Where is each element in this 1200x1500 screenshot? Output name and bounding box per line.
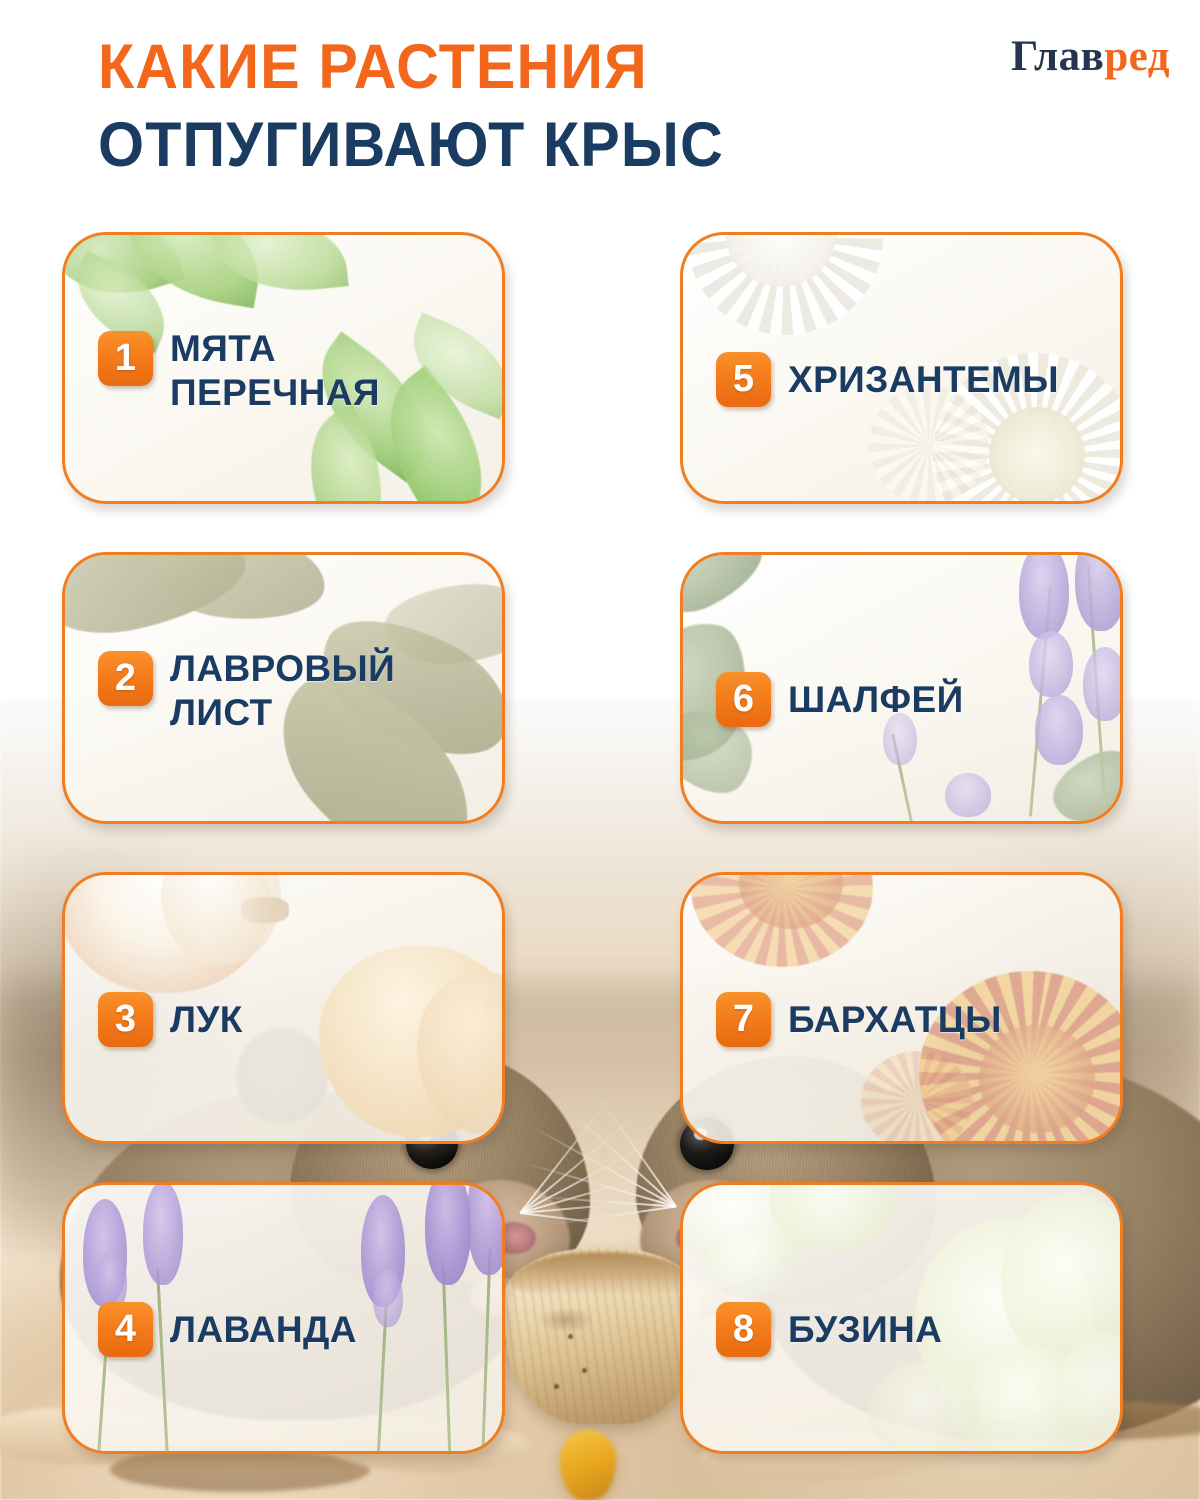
logo-text-accent: ред — [1104, 33, 1170, 80]
plant-card-7-inner: 7 БАРХАТЦЫ — [683, 875, 1120, 1141]
plant-card-2-inner: 2 ЛАВРОВЫЙ ЛИСТ — [65, 555, 502, 821]
plant-card-4-inner: 4 ЛАВАНДА — [65, 1185, 502, 1451]
plant-card-7-label: БАРХАТЦЫ — [788, 998, 1002, 1042]
plant-card-3-label: ЛУК — [170, 998, 243, 1042]
plant-card-1-label: МЯТА ПЕРЕЧНАЯ — [170, 327, 380, 415]
plant-card-3-number: 3 — [98, 992, 153, 1047]
plant-card-3-row: 3 ЛУК — [98, 992, 243, 1047]
brand-logo[interactable]: Главред — [1011, 34, 1170, 80]
plant-card-5-number: 5 — [716, 352, 771, 407]
plant-card-3-inner: 3 ЛУК — [65, 875, 502, 1141]
plant-card-2-row: 2 ЛАВРОВЫЙ ЛИСТ — [98, 647, 395, 735]
header: КАКИЕ РАСТЕНИЯ ОТПУГИВАЮТ КРЫС Главред — [0, 0, 1200, 205]
plant-card-4-label: ЛАВАНДА — [170, 1308, 357, 1352]
plant-card-4-row: 4 ЛАВАНДА — [98, 1302, 357, 1357]
plant-card-4[interactable]: 4 ЛАВАНДА — [62, 1182, 505, 1454]
plant-card-2[interactable]: 2 ЛАВРОВЫЙ ЛИСТ — [62, 552, 505, 824]
plant-card-1-inner: 1 МЯТА ПЕРЕЧНАЯ — [65, 235, 502, 501]
plant-card-7-number: 7 — [716, 992, 771, 1047]
plant-card-3[interactable]: 3 ЛУК — [62, 872, 505, 1144]
plant-card-7-row: 7 БАРХАТЦЫ — [716, 992, 1002, 1047]
logo-text-primary: Глав — [1011, 33, 1104, 80]
plant-card-8-row: 8 БУЗИНА — [716, 1302, 942, 1357]
plant-card-8[interactable]: 8 БУЗИНА — [680, 1182, 1123, 1454]
plant-card-1-row: 1 МЯТА ПЕРЕЧНАЯ — [98, 327, 380, 415]
plant-card-6-row: 6 ШАЛФЕЙ — [716, 672, 964, 727]
plant-card-6-number: 6 — [716, 672, 771, 727]
plant-card-8-number: 8 — [716, 1302, 771, 1357]
plant-card-2-label: ЛАВРОВЫЙ ЛИСТ — [170, 647, 395, 735]
plant-card-5[interactable]: 5 ХРИЗАНТЕМЫ — [680, 232, 1123, 504]
plant-card-8-inner: 8 БУЗИНА — [683, 1185, 1120, 1451]
page-title: КАКИЕ РАСТЕНИЯ ОТПУГИВАЮТ КРЫС — [98, 28, 724, 184]
plant-card-8-label: БУЗИНА — [788, 1308, 942, 1352]
plant-card-4-number: 4 — [98, 1302, 153, 1357]
plant-card-grid: 1 МЯТА ПЕРЕЧНАЯ 2 ЛАВРОВЫЙ ЛИСТ — [0, 0, 1200, 1500]
plant-card-6[interactable]: 6 ШАЛФЕЙ — [680, 552, 1123, 824]
plant-card-6-inner: 6 ШАЛФЕЙ — [683, 555, 1120, 821]
plant-card-5-inner: 5 ХРИЗАНТЕМЫ — [683, 235, 1120, 501]
plant-card-5-row: 5 ХРИЗАНТЕМЫ — [716, 352, 1059, 407]
plant-card-1-number: 1 — [98, 331, 153, 386]
infographic-poster: КАКИЕ РАСТЕНИЯ ОТПУГИВАЮТ КРЫС Главред — [0, 0, 1200, 1500]
plant-card-5-label: ХРИЗАНТЕМЫ — [788, 358, 1059, 402]
plant-card-1[interactable]: 1 МЯТА ПЕРЕЧНАЯ — [62, 232, 505, 504]
page-title-line2: ОТПУГИВАЮТ КРЫС — [98, 106, 724, 184]
plant-card-6-label: ШАЛФЕЙ — [788, 678, 964, 722]
page-title-line1: КАКИЕ РАСТЕНИЯ — [98, 28, 724, 106]
plant-card-2-number: 2 — [98, 651, 153, 706]
plant-card-7[interactable]: 7 БАРХАТЦЫ — [680, 872, 1123, 1144]
